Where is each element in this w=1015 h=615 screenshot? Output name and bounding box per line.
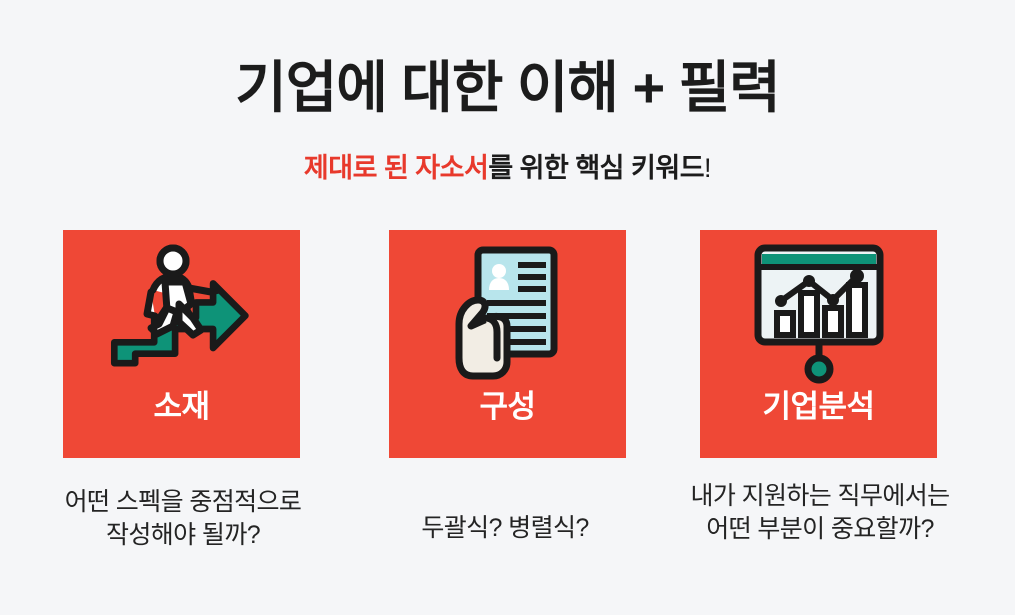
caption-guseong: 두괄식? 병렬식? bbox=[380, 512, 630, 545]
card-guseong[interactable]: 구성 bbox=[389, 230, 626, 458]
caption-row: 어떤 스펙을 중점적으로 작성해야 될까? 두괄식? 병렬식? 내가 지원하는 … bbox=[0, 480, 1015, 590]
caption-sojae: 어떤 스펙을 중점적으로 작성해야 될까? bbox=[20, 486, 346, 552]
caption-gieopbunseok: 내가 지원하는 직무에서는 어떤 부분이 중요할까? bbox=[650, 480, 990, 546]
card-label: 소재 bbox=[153, 390, 209, 424]
page-title: 기업에 대한 이해 + 필력 bbox=[0, 57, 1015, 119]
caption-line: 어떤 부분이 중요할까? bbox=[650, 513, 990, 546]
subtitle-exclamation: ! bbox=[704, 153, 711, 183]
card-sojae[interactable]: 소재 bbox=[63, 230, 300, 458]
infographic-page: 기업에 대한 이해 + 필력 제대로 된 자소서를 위한 핵심 키워드! bbox=[0, 0, 1015, 615]
subtitle-tail: 를 위한 핵심 키워드 bbox=[488, 153, 704, 183]
page-subtitle: 제대로 된 자소서를 위한 핵심 키워드! bbox=[0, 152, 1015, 184]
hand-holding-resume-icon bbox=[389, 230, 626, 390]
person-climbing-stairs-arrow-icon bbox=[63, 230, 300, 390]
card-gieopbunseok[interactable]: 기업분석 bbox=[700, 230, 937, 458]
caption-line: 어떤 스펙을 중점적으로 bbox=[20, 486, 346, 519]
subtitle-highlight: 제대로 된 자소서 bbox=[304, 153, 488, 183]
caption-line: 내가 지원하는 직무에서는 bbox=[650, 480, 990, 513]
caption-line: 작성해야 될까? bbox=[20, 519, 346, 552]
card-label: 구성 bbox=[479, 390, 535, 424]
card-label: 기업분석 bbox=[762, 390, 874, 424]
caption-line: 두괄식? 병렬식? bbox=[380, 512, 630, 545]
presentation-bar-chart-icon bbox=[700, 230, 937, 390]
card-row: 소재 bbox=[0, 230, 1015, 460]
